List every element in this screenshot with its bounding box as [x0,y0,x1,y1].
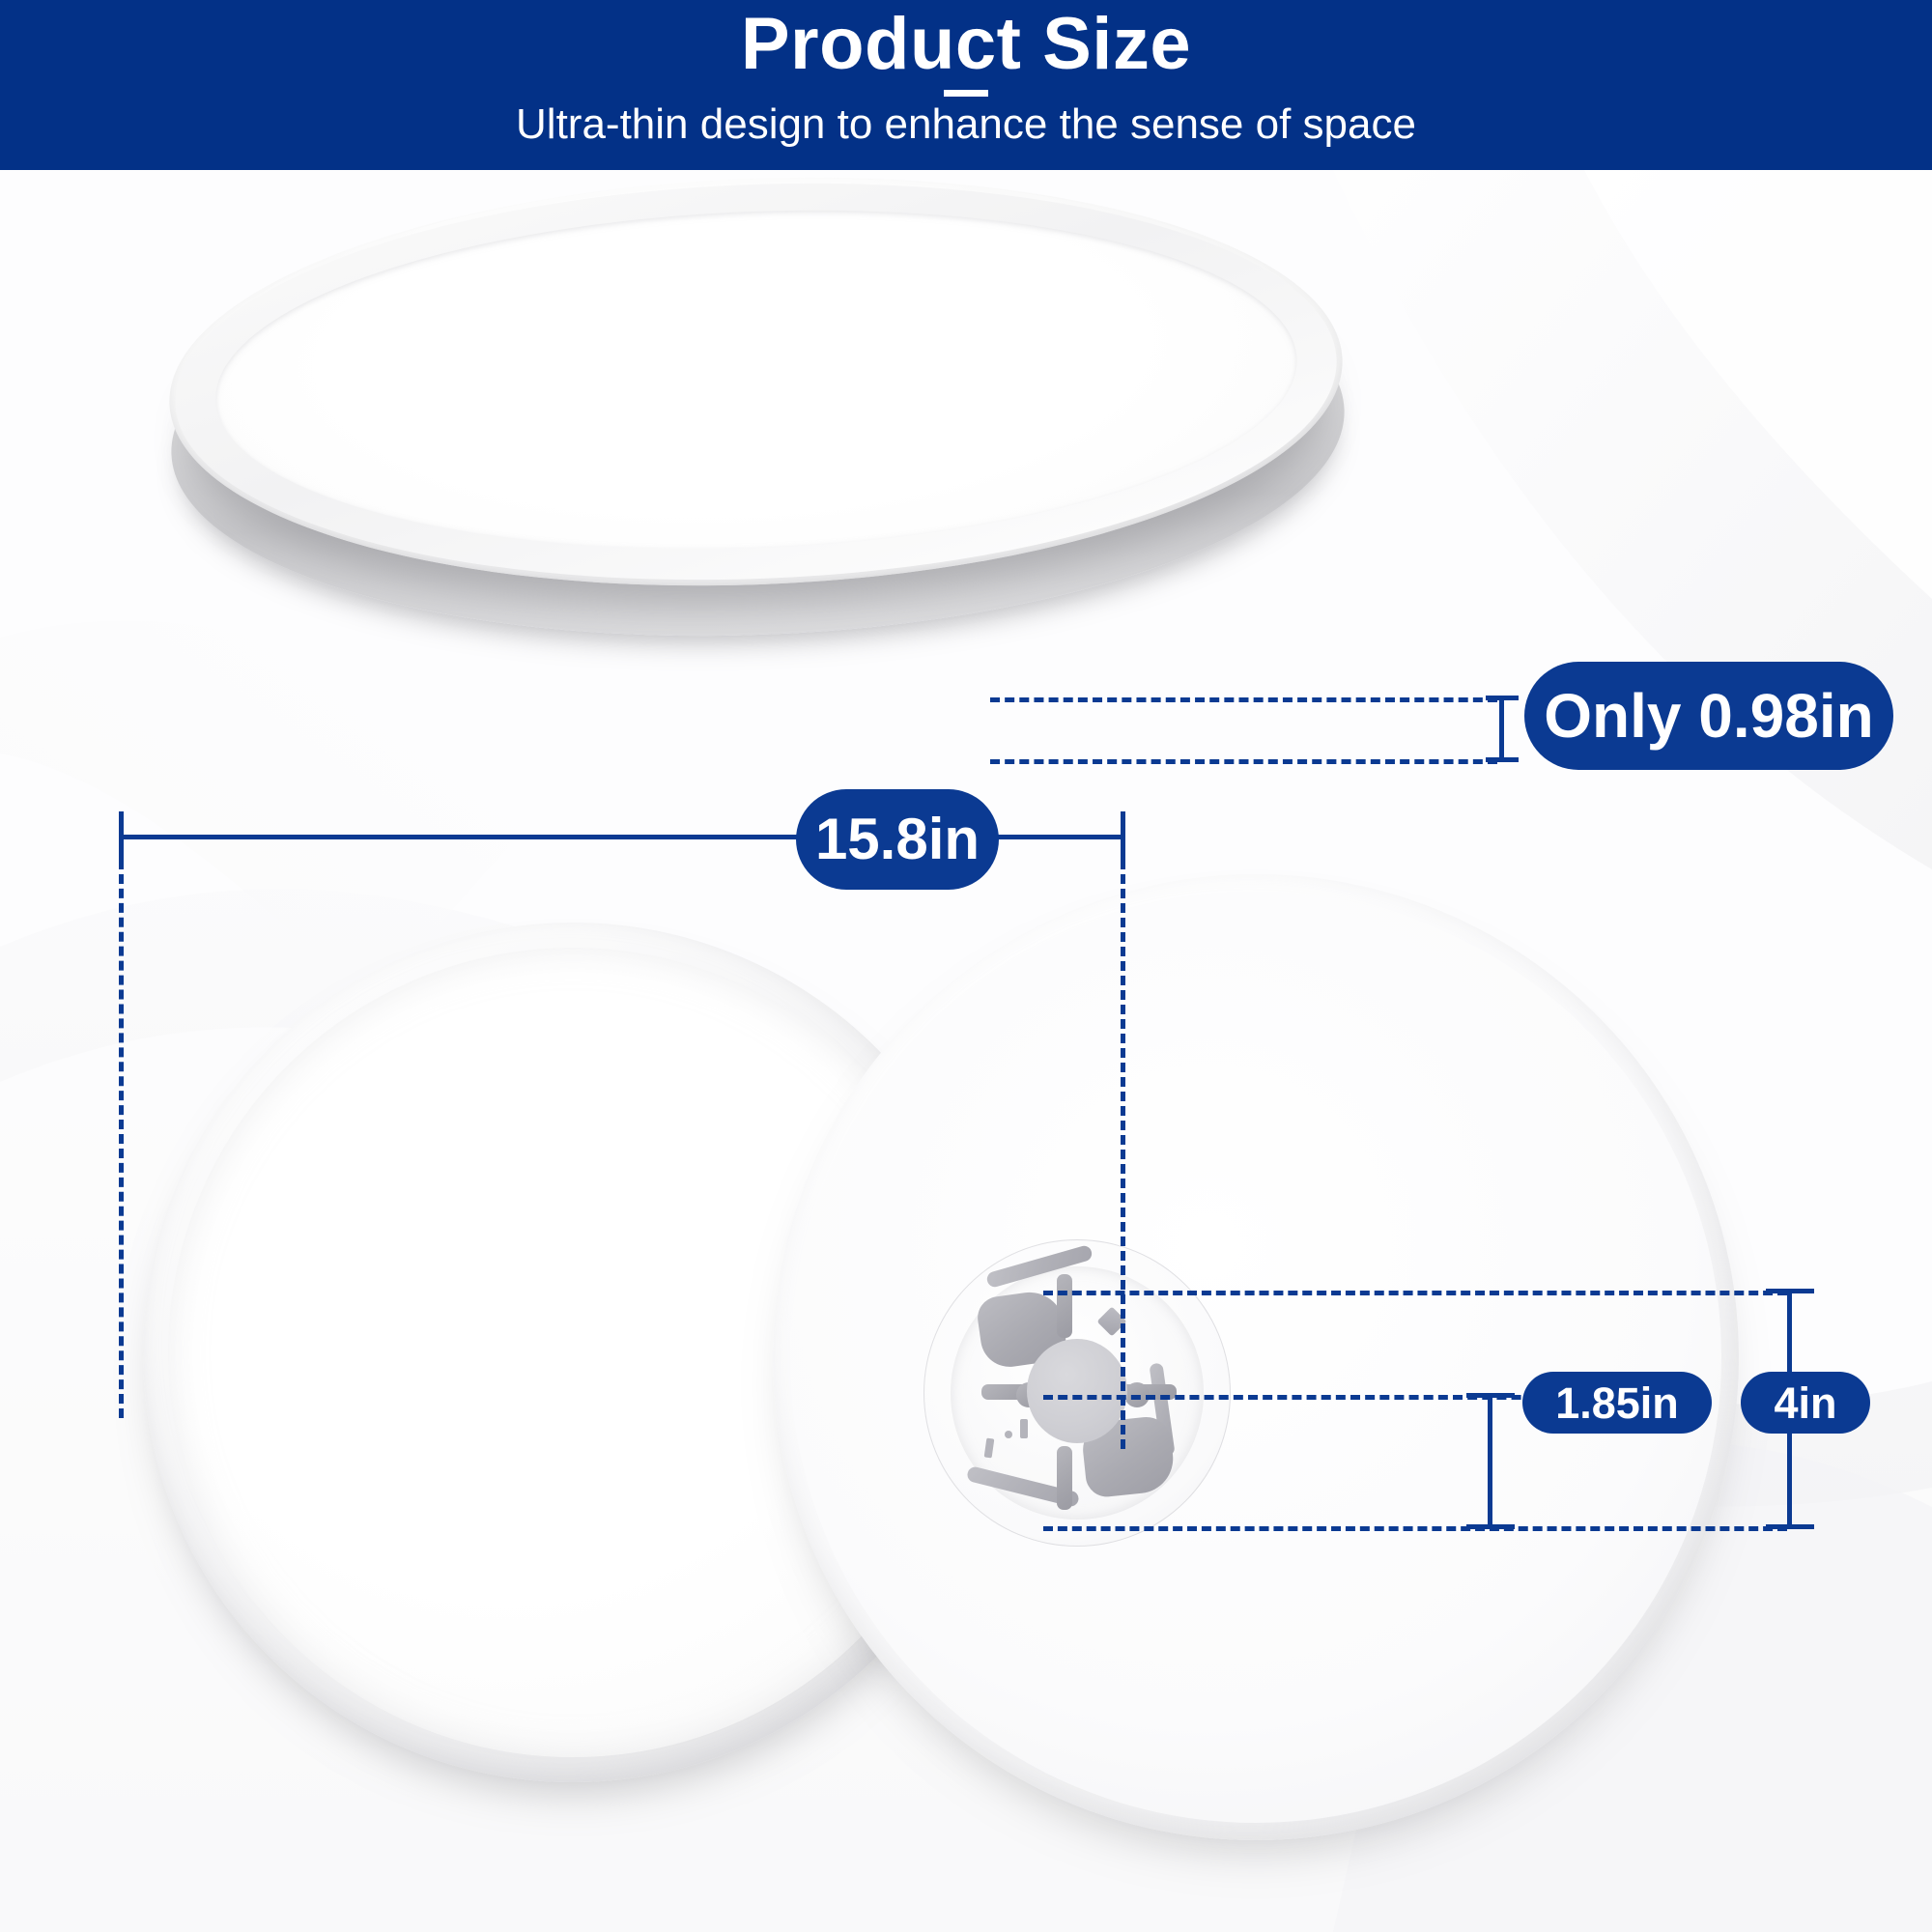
diameter-label: 15.8in [796,789,999,890]
bracket-leader-top [1043,1291,1787,1295]
bracket-inner-label: 1.85in [1522,1372,1712,1434]
bracket-leader-bottom [1043,1526,1787,1531]
diameter-left-cap [119,811,124,862]
header-banner: Product Size Ultra-thin design to enhanc… [0,0,1932,170]
bracket-tick-2 [1005,1431,1012,1438]
thickness-bottom-dashed-line [990,759,1497,764]
page-title: Product Size [741,8,1191,81]
bracket-center-hub [1027,1339,1127,1443]
diameter-right-cap [1121,811,1125,862]
thickness-top-dashed-line [990,697,1497,702]
inner-dim-bar [1488,1393,1492,1529]
title-divider [944,90,988,97]
diameter-right-extension [1121,860,1125,1449]
bracket-slot-top [1057,1274,1072,1338]
thickness-label: Only 0.98in [1524,662,1893,770]
product-size-infographic: Product Size Ultra-thin design to enhanc… [0,0,1932,1932]
ceiling-light-back-view [773,874,1739,1840]
mounting-bracket [923,1239,1231,1547]
page-subtitle: Ultra-thin design to enhance the sense o… [516,103,1416,146]
thickness-measure-bar [1499,696,1504,762]
back-panel-shell [773,874,1739,1840]
bracket-tick-3 [1020,1419,1028,1438]
ceiling-light-angled-view [161,156,1350,607]
bracket-outer-label: 4in [1741,1372,1870,1434]
diameter-left-extension [119,860,124,1418]
bracket-slot-bottom [1057,1446,1072,1510]
